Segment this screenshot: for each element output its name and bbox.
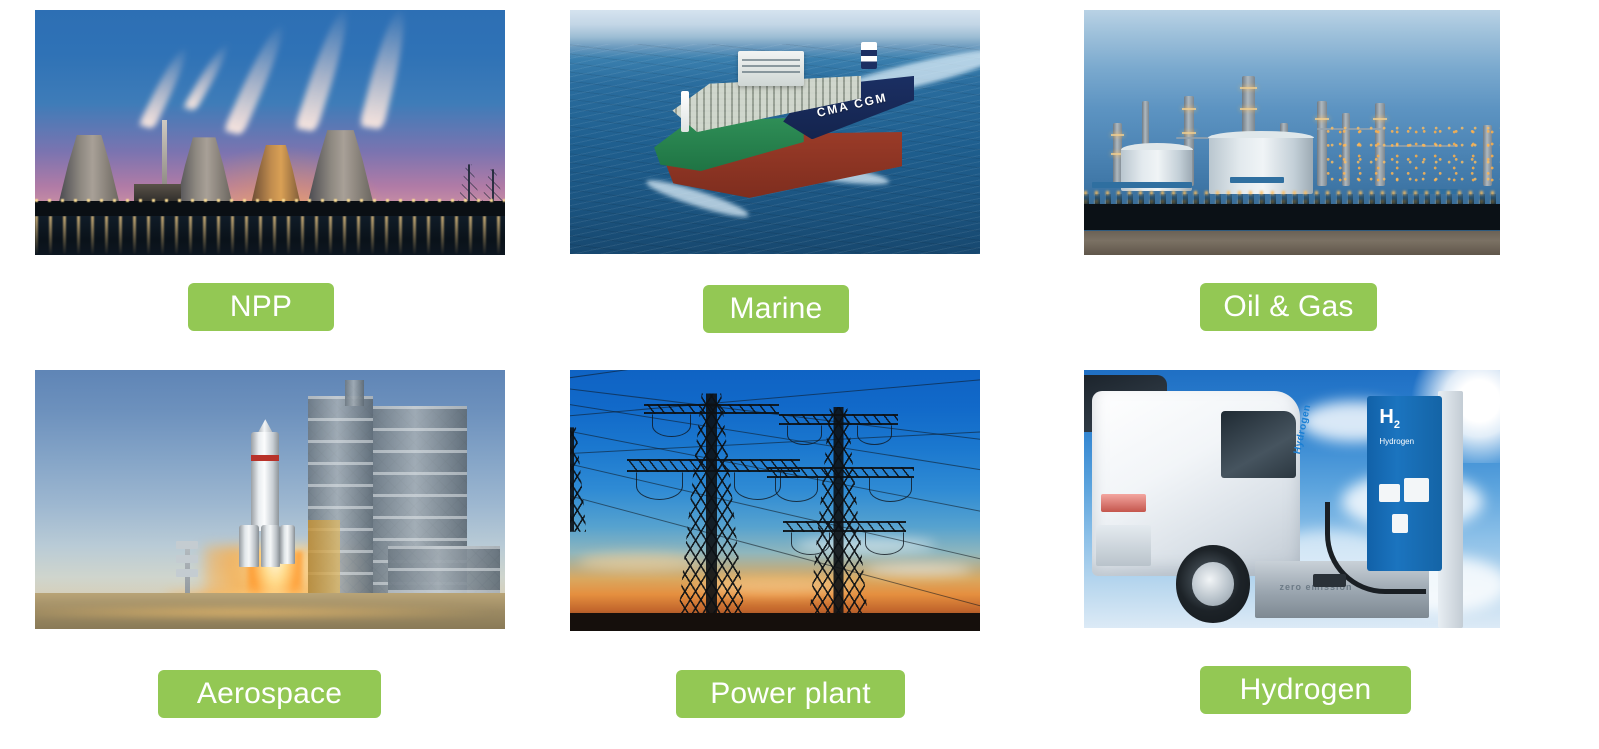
marine-thumbnail[interactable]: CMA CGM <box>570 10 980 254</box>
category-card-npp[interactable]: NPP <box>35 10 505 331</box>
category-label-text: NPP <box>230 290 292 324</box>
category-card-oil-gas[interactable]: Oil & Gas <box>1084 10 1500 331</box>
category-label-text: Oil & Gas <box>1223 290 1353 324</box>
industry-category-gallery: NPP CMA CGM <box>0 0 1599 749</box>
aerospace-thumbnail[interactable] <box>35 370 505 629</box>
category-card-aerospace[interactable]: Aerospace <box>35 370 505 718</box>
category-label-text: Marine <box>730 292 823 326</box>
category-card-hydrogen[interactable]: Hydrogen zero emission H2 Hydrogen Hydro… <box>1084 370 1500 718</box>
category-label-text: Aerospace <box>197 677 342 711</box>
power-plant-thumbnail[interactable] <box>570 370 980 631</box>
station-caption: Hydrogen <box>1379 437 1414 446</box>
category-label-oil-gas[interactable]: Oil & Gas <box>1200 283 1377 331</box>
hydrogen-thumbnail[interactable]: Hydrogen zero emission H2 Hydrogen <box>1084 370 1500 628</box>
category-label-text: Hydrogen <box>1240 673 1372 707</box>
category-label-text: Power plant <box>710 677 871 711</box>
station-h2-symbol: H2 <box>1379 406 1400 431</box>
category-label-power-plant[interactable]: Power plant <box>676 670 905 718</box>
category-card-power-plant[interactable]: Power plant <box>570 370 980 718</box>
npp-thumbnail[interactable] <box>35 10 505 255</box>
category-label-npp[interactable]: NPP <box>188 283 334 331</box>
category-label-marine[interactable]: Marine <box>703 285 849 333</box>
category-label-aerospace[interactable]: Aerospace <box>158 670 381 718</box>
category-label-hydrogen[interactable]: Hydrogen <box>1200 666 1411 714</box>
category-card-marine[interactable]: CMA CGM Marine <box>570 10 980 333</box>
oil-gas-thumbnail[interactable] <box>1084 10 1500 255</box>
